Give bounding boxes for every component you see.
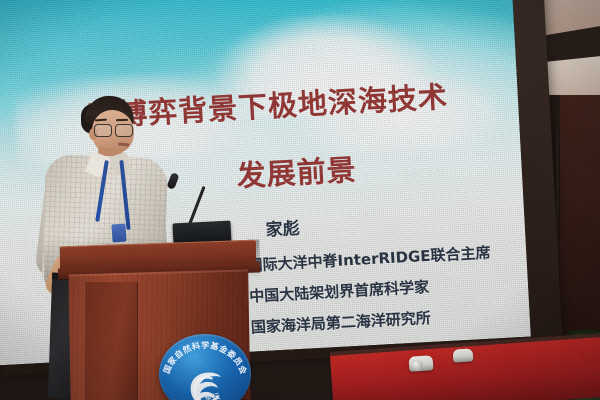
eyeglasses-icon [94, 124, 134, 135]
badge-bottom-text: 论坛 [204, 391, 221, 400]
stage-light-lens [411, 360, 423, 371]
badge-card [111, 224, 126, 243]
podium-logo-badge: 国家自然科学基金委员会 论坛 [159, 334, 251, 400]
stage-light [453, 348, 474, 362]
right-wall-panel [560, 95, 600, 355]
eyebrow-right [116, 119, 128, 121]
podium-front-panel [84, 282, 138, 400]
presentation-photo-scene: 球博弈背景下极地深海技术 发展前景 家彪 国际大洋中脊InterRIDGE联合主… [0, 0, 600, 400]
glasses-lens-left [94, 124, 112, 137]
glasses-lens-right [115, 124, 133, 137]
